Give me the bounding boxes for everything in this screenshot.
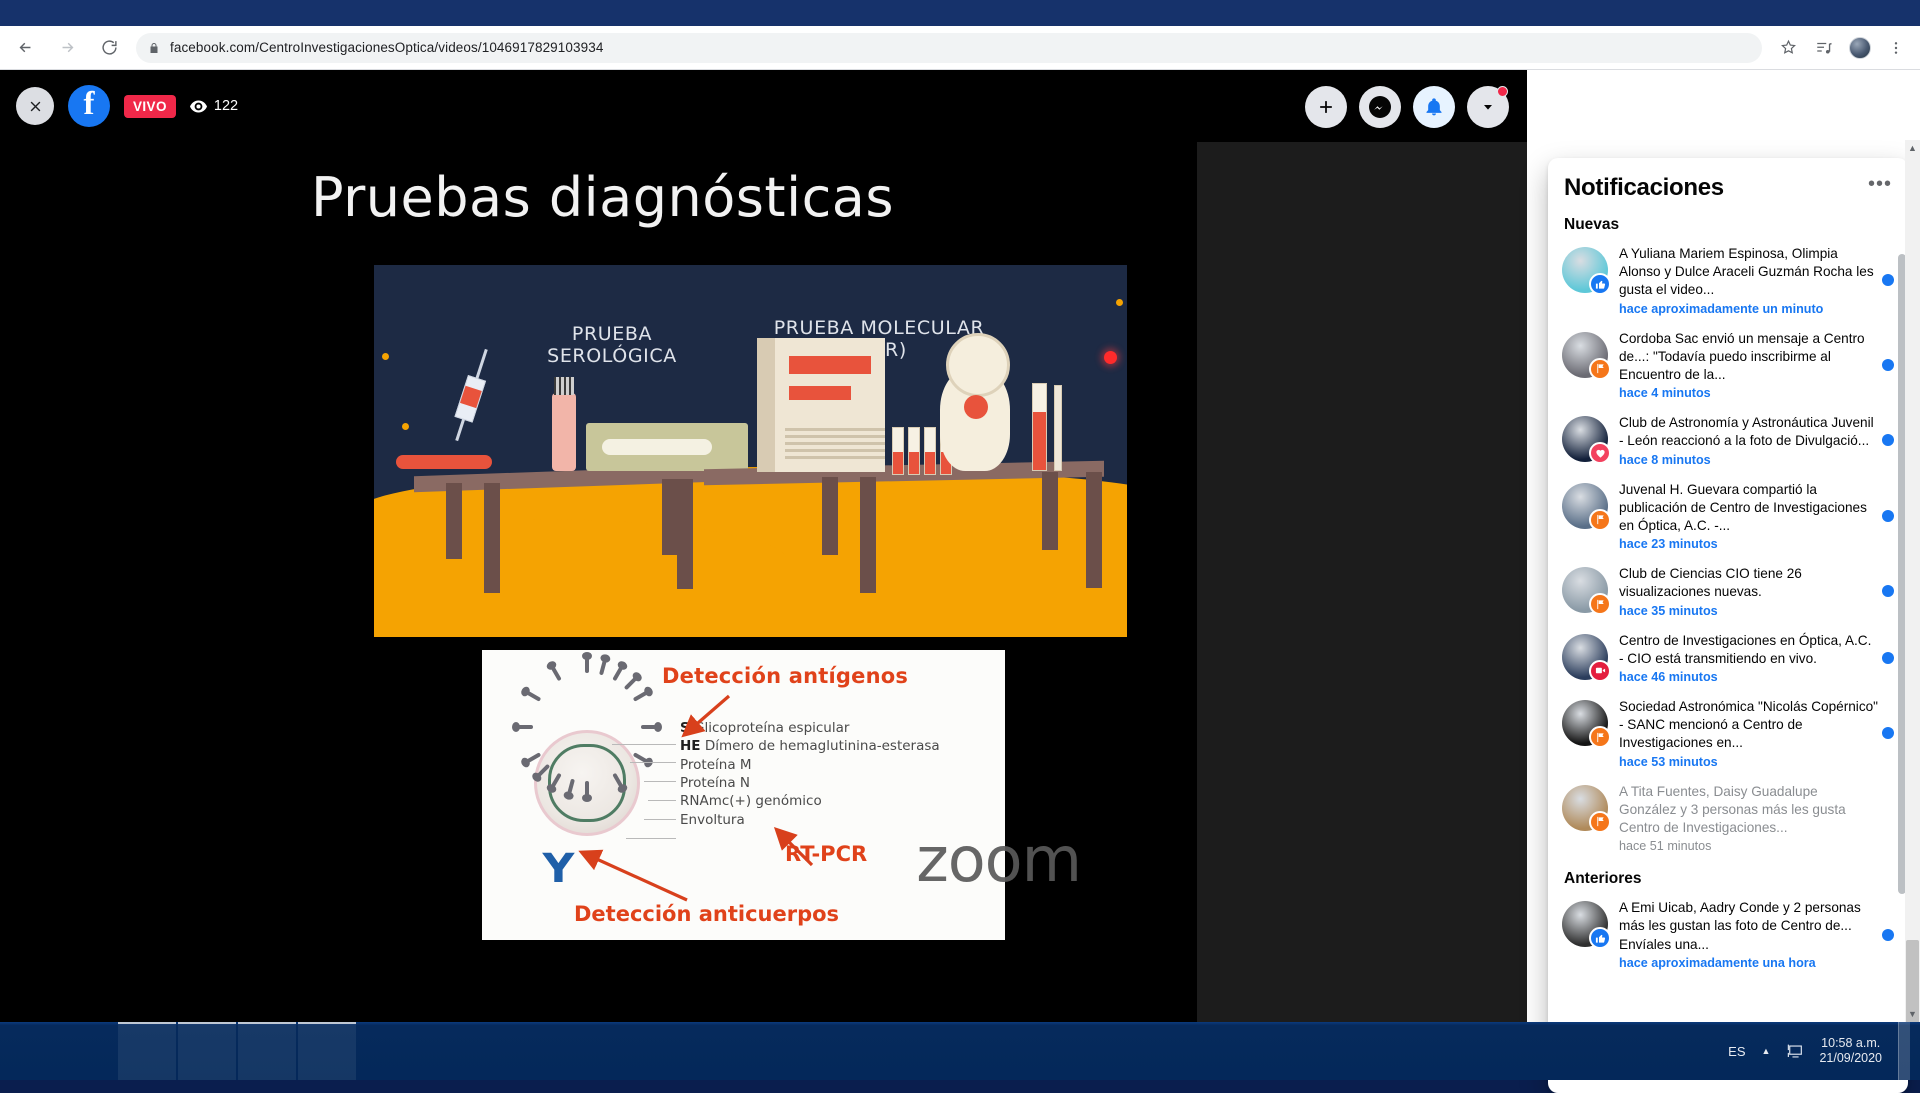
account-menu-button[interactable] bbox=[1467, 86, 1509, 128]
flag-badge-icon bbox=[1589, 509, 1611, 531]
diagram-footer: Detección anticuerpos bbox=[574, 902, 839, 926]
avatar-wrapper bbox=[1562, 634, 1608, 680]
chrome-menu-icon[interactable] bbox=[1880, 32, 1912, 64]
taskbar-app[interactable] bbox=[238, 1022, 296, 1080]
clock[interactable]: 10:58 a.m. 21/09/2020 bbox=[1819, 1036, 1882, 1067]
notification-text: A Tita Fuentes, Daisy Guadalupe González… bbox=[1619, 783, 1878, 838]
sample-tube bbox=[924, 427, 936, 475]
padlock-icon bbox=[148, 41, 160, 55]
page-scrollbar[interactable]: ▲ ▼ bbox=[1905, 140, 1920, 1022]
reading-list-icon[interactable] bbox=[1808, 32, 1840, 64]
taskbar-app[interactable] bbox=[118, 1022, 176, 1080]
forward-button[interactable] bbox=[50, 31, 84, 65]
flag-badge-icon bbox=[1589, 593, 1611, 615]
avatar-wrapper bbox=[1562, 247, 1608, 293]
unread-indicator bbox=[1882, 585, 1894, 597]
video-top-controls: f VIVO 122 bbox=[0, 70, 1527, 142]
notification-body: Sociedad Astronómica "Nicolás Copérnico"… bbox=[1619, 698, 1894, 769]
browser-window: facebook.com/CentroInvestigacionesOptica… bbox=[0, 0, 1920, 1022]
unread-indicator bbox=[1882, 359, 1894, 371]
viewer-count-text: 122 bbox=[214, 98, 238, 114]
label-prueba-serologica: PRUEBASEROLÓGICA bbox=[512, 323, 712, 368]
notification-text: Club de Ciencias CIO tiene 26 visualizac… bbox=[1619, 565, 1878, 601]
notification-body: Club de Ciencias CIO tiene 26 visualizac… bbox=[1619, 565, 1894, 617]
eye-icon bbox=[190, 100, 207, 113]
notification-item[interactable]: A Emi Uicab, Aadry Conde y 2 personas má… bbox=[1548, 892, 1908, 977]
facebook-top-tools bbox=[1305, 86, 1509, 128]
recording-indicator-icon bbox=[1104, 351, 1117, 364]
show-desktop-button[interactable] bbox=[1898, 1022, 1910, 1080]
virus-diagram: Detección antígenos bbox=[482, 650, 1005, 940]
sample-tube bbox=[908, 427, 920, 475]
notification-time: hace 23 minutos bbox=[1619, 537, 1878, 551]
decor-speck bbox=[1116, 299, 1123, 306]
table-leg bbox=[446, 483, 462, 559]
test-kit-icon bbox=[586, 423, 748, 471]
monitor-icon[interactable] bbox=[1786, 1044, 1803, 1059]
notification-time: hace 4 minutos bbox=[1619, 386, 1878, 400]
notification-text: A Emi Uicab, Aadry Conde y 2 personas má… bbox=[1619, 899, 1878, 954]
antibody-icon: Y bbox=[543, 846, 575, 892]
diagram-item: S Glicoproteína espicular bbox=[680, 719, 1000, 737]
notifications-title: Notificaciones bbox=[1564, 174, 1724, 202]
notifications-list[interactable]: NuevasA Yuliana Mariem Espinosa, Olimpia… bbox=[1548, 206, 1908, 977]
notification-item[interactable]: Centro de Investigaciones en Óptica, A.C… bbox=[1548, 625, 1908, 691]
leader-line bbox=[630, 762, 676, 763]
unread-indicator bbox=[1882, 929, 1894, 941]
scroll-up-icon[interactable]: ▲ bbox=[1905, 140, 1920, 156]
unread-indicator bbox=[1882, 727, 1894, 739]
live-badge: VIVO bbox=[124, 95, 176, 118]
clock-date: 21/09/2020 bbox=[1819, 1051, 1882, 1065]
notification-text: Cordoba Sac envió un mensaje a Centro de… bbox=[1619, 330, 1878, 385]
notification-item[interactable]: Sociedad Astronómica "Nicolás Copérnico"… bbox=[1548, 691, 1908, 776]
notification-item[interactable]: A Tita Fuentes, Daisy Guadalupe González… bbox=[1548, 776, 1908, 861]
windows-taskbar: ES ▲ 10:58 a.m. 21/09/2020 bbox=[0, 1022, 1920, 1080]
create-button[interactable] bbox=[1305, 86, 1347, 128]
language-indicator[interactable]: ES bbox=[1728, 1044, 1745, 1059]
notification-body: Juvenal H. Guevara compartió la publicac… bbox=[1619, 481, 1894, 552]
more-options-icon[interactable]: ••• bbox=[1868, 178, 1892, 198]
sample-tube-tall bbox=[1032, 383, 1047, 471]
notification-body: Cordoba Sac envió un mensaje a Centro de… bbox=[1619, 330, 1894, 401]
notification-dot bbox=[1497, 86, 1508, 97]
notification-text: A Yuliana Mariem Espinosa, Olimpia Alons… bbox=[1619, 245, 1878, 300]
unread-indicator bbox=[1882, 510, 1894, 522]
like-badge-icon bbox=[1589, 927, 1611, 949]
vial-icon bbox=[552, 393, 576, 471]
unread-indicator bbox=[1882, 274, 1894, 286]
notification-text: Club de Astronomía y Astronáutica Juveni… bbox=[1619, 414, 1878, 450]
browser-titlebar bbox=[0, 0, 1920, 26]
notification-time: hace 53 minutos bbox=[1619, 755, 1878, 769]
clock-time: 10:58 a.m. bbox=[1821, 1036, 1880, 1050]
back-button[interactable] bbox=[8, 31, 42, 65]
notification-time: hace 51 minutos bbox=[1619, 839, 1878, 853]
notifications-panel[interactable]: Notificaciones ••• NuevasA Yuliana Marie… bbox=[1548, 158, 1908, 1093]
notification-time: hace 46 minutos bbox=[1619, 670, 1878, 684]
notification-body: Club de Astronomía y Astronáutica Juveni… bbox=[1619, 414, 1894, 466]
swab-icon bbox=[1054, 385, 1062, 471]
table-leg bbox=[484, 483, 500, 593]
flag-badge-icon bbox=[1589, 811, 1611, 833]
table-leg bbox=[860, 477, 876, 593]
notification-body: A Emi Uicab, Aadry Conde y 2 personas má… bbox=[1619, 899, 1894, 970]
syringe-icon bbox=[455, 349, 488, 441]
avatar-wrapper bbox=[1562, 700, 1608, 746]
leader-line bbox=[644, 819, 676, 820]
system-tray: ES ▲ 10:58 a.m. 21/09/2020 bbox=[1728, 1022, 1920, 1080]
avatar-wrapper bbox=[1562, 901, 1608, 947]
leader-line bbox=[626, 838, 676, 839]
slide-illustration: PRUEBASEROLÓGICA PRUEBA MOLECULAR(PCR) bbox=[374, 265, 1127, 637]
table-leg bbox=[1086, 472, 1102, 588]
diagram-item: HE Dímero de hemaglutinina-esterasa bbox=[680, 737, 1000, 755]
notification-body: Centro de Investigaciones en Óptica, A.C… bbox=[1619, 632, 1894, 684]
decor-speck bbox=[382, 353, 389, 360]
leader-line bbox=[644, 781, 676, 782]
leader-line bbox=[612, 744, 676, 745]
notification-body: A Tita Fuentes, Daisy Guadalupe González… bbox=[1619, 783, 1894, 854]
notification-time: hace aproximadamente un minuto bbox=[1619, 302, 1878, 316]
stage-right-rail bbox=[1197, 142, 1527, 1022]
like-badge-icon bbox=[1589, 273, 1611, 295]
flag-badge-icon bbox=[1589, 726, 1611, 748]
centrifuge-icon bbox=[940, 369, 1010, 471]
slide-title: Pruebas diagnósticas bbox=[78, 166, 1127, 229]
leader-line bbox=[648, 800, 676, 801]
notifications-section-label: Anteriores bbox=[1548, 860, 1908, 892]
url-text: facebook.com/CentroInvestigacionesOptica… bbox=[170, 40, 603, 55]
close-icon[interactable] bbox=[16, 87, 54, 125]
notification-item[interactable]: A Yuliana Mariem Espinosa, Olimpia Alons… bbox=[1548, 238, 1908, 323]
messenger-button[interactable] bbox=[1359, 86, 1401, 128]
virus-illustration bbox=[520, 716, 654, 850]
chevron-up-icon[interactable]: ▲ bbox=[1762, 1046, 1771, 1056]
unread-indicator bbox=[1882, 434, 1894, 446]
heart-badge-icon bbox=[1589, 442, 1611, 464]
viewer-count: 122 bbox=[190, 98, 238, 114]
notification-item[interactable]: Club de Ciencias CIO tiene 26 visualizac… bbox=[1548, 558, 1908, 624]
notifications-button[interactable] bbox=[1413, 86, 1455, 128]
table-leg bbox=[1042, 472, 1058, 550]
table-leg bbox=[662, 479, 678, 555]
notification-text: Centro de Investigaciones en Óptica, A.C… bbox=[1619, 632, 1878, 668]
diagram-rtpcr-label: RT-PCR bbox=[785, 842, 867, 866]
taskbar-buttons bbox=[0, 1022, 358, 1080]
shared-screen: Pruebas diagnósticas PRUEBASEROLÓGICA PR… bbox=[78, 142, 1127, 962]
address-bar[interactable]: facebook.com/CentroInvestigacionesOptica… bbox=[136, 33, 1762, 63]
table-leg bbox=[677, 479, 693, 589]
test-strip-icon bbox=[396, 455, 492, 469]
notifications-section-label: Nuevas bbox=[1548, 206, 1908, 238]
notification-time: hace 8 minutos bbox=[1619, 453, 1878, 467]
diagram-item: Proteína N bbox=[680, 774, 1000, 792]
avatar-wrapper bbox=[1562, 567, 1608, 613]
notification-text: Juvenal H. Guevara compartió la publicac… bbox=[1619, 481, 1878, 536]
browser-toolbar: facebook.com/CentroInvestigacionesOptica… bbox=[0, 26, 1920, 70]
taskbar-app[interactable] bbox=[298, 1022, 356, 1080]
bookmark-star-icon[interactable] bbox=[1772, 32, 1804, 64]
avatar-wrapper bbox=[1562, 416, 1608, 462]
facebook-page: f VIVO 122 Pruebas diagnósticas bbox=[0, 70, 1920, 1022]
notification-item[interactable]: Juvenal H. Guevara compartió la publicac… bbox=[1548, 474, 1908, 559]
avatar-wrapper bbox=[1562, 785, 1608, 831]
notification-time: hace aproximadamente una hora bbox=[1619, 956, 1878, 970]
avatar-wrapper bbox=[1562, 483, 1608, 529]
zoom-watermark: zoom bbox=[916, 823, 1081, 896]
avatar-wrapper bbox=[1562, 332, 1608, 378]
notification-item[interactable]: Cordoba Sac envió un mensaje a Centro de… bbox=[1548, 323, 1908, 408]
notification-item[interactable]: Club de Astronomía y Astronáutica Juveni… bbox=[1548, 407, 1908, 473]
unread-indicator bbox=[1882, 652, 1894, 664]
pcr-machine-icon bbox=[757, 338, 885, 472]
facebook-logo-icon[interactable]: f bbox=[68, 85, 110, 127]
taskbar-app[interactable] bbox=[178, 1022, 236, 1080]
flag-badge-icon bbox=[1589, 358, 1611, 380]
video-player-stage[interactable]: f VIVO 122 Pruebas diagnósticas bbox=[0, 70, 1527, 1022]
sample-tube bbox=[892, 427, 904, 475]
diagram-label-list: S Glicoproteína espicular HE Dímero de h… bbox=[680, 719, 1000, 829]
notification-body: A Yuliana Mariem Espinosa, Olimpia Alons… bbox=[1619, 245, 1894, 316]
table-leg bbox=[822, 477, 838, 555]
avatar bbox=[1849, 37, 1871, 59]
notification-text: Sociedad Astronómica "Nicolás Copérnico"… bbox=[1619, 698, 1878, 753]
diagram-heading: Detección antígenos bbox=[662, 664, 908, 688]
decor-speck bbox=[402, 423, 409, 430]
diagram-item: RNAmc(+) genómico bbox=[680, 792, 1000, 810]
sand-foreground bbox=[374, 519, 786, 637]
reload-button[interactable] bbox=[92, 31, 126, 65]
notification-time: hace 35 minutos bbox=[1619, 604, 1878, 618]
live-badge-icon bbox=[1589, 660, 1611, 682]
profile-avatar[interactable] bbox=[1844, 32, 1876, 64]
diagram-item: Proteína M bbox=[680, 756, 1000, 774]
scroll-down-icon[interactable]: ▼ bbox=[1905, 1006, 1920, 1022]
notifications-header: Notificaciones ••• bbox=[1548, 158, 1908, 206]
